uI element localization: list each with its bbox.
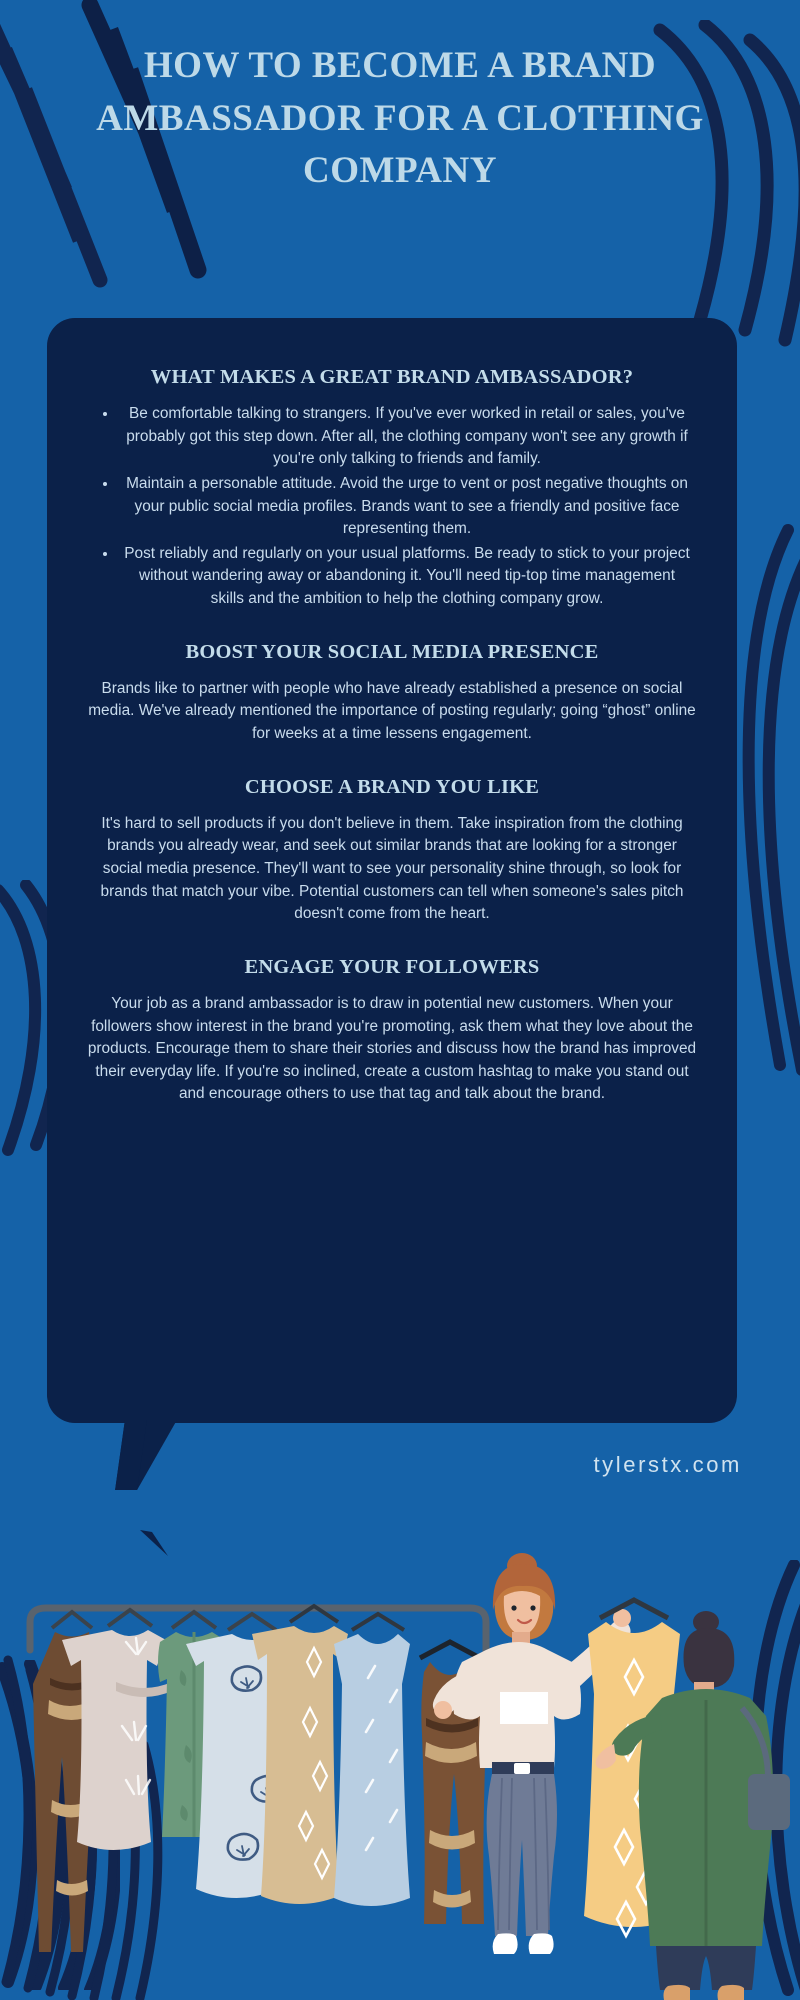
scribble-accent xyxy=(140,1530,168,1556)
shoe-right xyxy=(718,1985,745,2000)
section-paragraph: Brands like to partner with people who h… xyxy=(87,678,697,746)
list-item: Maintain a personable attitude. Avoid th… xyxy=(87,473,697,541)
list-item: Be comfortable talking to strangers. If … xyxy=(87,403,697,471)
section-choose-a-brand-you-like: CHOOSE A BRAND YOU LIKE It's hard to sel… xyxy=(87,776,697,926)
list-item-text: Be comfortable talking to strangers. If … xyxy=(126,405,688,467)
bullet-list: Be comfortable talking to strangers. If … xyxy=(87,403,697,611)
section-title: WHAT MAKES A GREAT BRAND AMBASSADOR? xyxy=(87,366,697,389)
section-paragraph: It's hard to sell products if you don't … xyxy=(87,813,697,926)
list-item: Post reliably and regularly on your usua… xyxy=(87,543,697,611)
list-item-text: Maintain a personable attitude. Avoid th… xyxy=(126,475,688,537)
section-boost-your-social-media-presence: BOOST YOUR SOCIAL MEDIA PRESENCE Brands … xyxy=(87,641,697,746)
page-title: HOW TO BECOME A BRAND AMBASSADOR FOR A C… xyxy=(0,40,800,198)
section-paragraph: Your job as a brand ambassador is to dra… xyxy=(87,993,697,1106)
clothing-rack-shoppers-illustration xyxy=(0,1530,800,2000)
garment-tan-diamond-dress xyxy=(252,1606,348,1904)
shoulder-bag xyxy=(748,1774,790,1830)
header: HOW TO BECOME A BRAND AMBASSADOR FOR A C… xyxy=(0,40,800,198)
shoe-left xyxy=(664,1985,691,2000)
speech-bubble-tail xyxy=(115,1420,177,1490)
bullet-dot-icon xyxy=(103,552,107,556)
shoe-left xyxy=(493,1933,518,1954)
shirt-graphic xyxy=(500,1692,548,1724)
list-item-text: Post reliably and regularly on your usua… xyxy=(124,545,689,607)
section-title: ENGAGE YOUR FOLLOWERS xyxy=(87,956,697,979)
shoe-right xyxy=(529,1933,554,1954)
section-engage-your-followers: ENGAGE YOUR FOLLOWERS Your job as a bran… xyxy=(87,956,697,1106)
bullet-dot-icon xyxy=(103,412,107,416)
trousers xyxy=(656,1946,756,1990)
section-title: CHOOSE A BRAND YOU LIKE xyxy=(87,776,697,799)
site-url[interactable]: tylerstx.com xyxy=(593,1452,742,1478)
content-card: WHAT MAKES A GREAT BRAND AMBASSADOR? Be … xyxy=(47,318,737,1423)
garment-paleblue-slip-dress xyxy=(334,1614,410,1906)
section-what-makes-a-great-brand-ambassador: WHAT MAKES A GREAT BRAND AMBASSADOR? Be … xyxy=(87,366,697,611)
section-title: BOOST YOUR SOCIAL MEDIA PRESENCE xyxy=(87,641,697,664)
bullet-dot-icon xyxy=(103,482,107,486)
hand-left xyxy=(434,1701,452,1719)
